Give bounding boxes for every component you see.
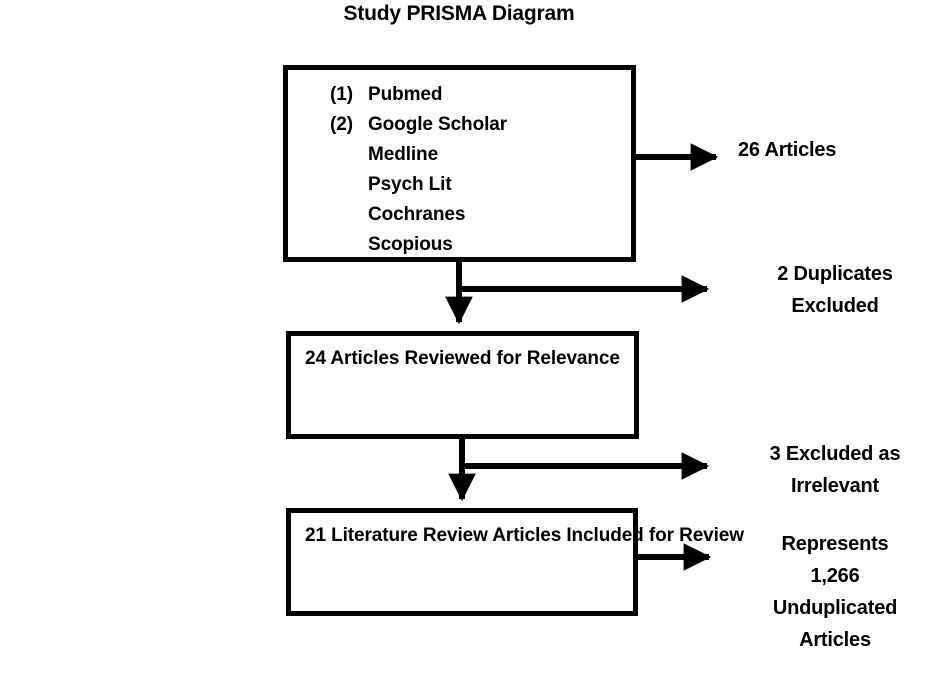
- source-marker: (2): [330, 110, 368, 140]
- source-marker: [330, 200, 368, 230]
- databases-searched-box: (1) Pubmed (2) Google Scholar Medline Ps…: [283, 65, 636, 262]
- articles-included-box: 21 Literature Review Articles Included f…: [286, 508, 638, 616]
- label-represents-line-3: Unduplicated: [735, 592, 935, 624]
- label-excluded-irrelevant-line-1: 3 Excluded as: [735, 438, 935, 470]
- label-duplicates-excluded-line-1: 2 Duplicates: [735, 258, 935, 290]
- label-duplicates-excluded-line-2: Excluded: [735, 290, 935, 322]
- source-label: Medline: [368, 140, 507, 170]
- label-represents-line-1: Represents: [735, 528, 935, 560]
- articles-included-line-1: 21 Literature Review Articles: [305, 525, 561, 546]
- page-title: Study PRISMA Diagram: [283, 2, 635, 26]
- source-label: Cochranes: [368, 200, 507, 230]
- label-represents-unduplicated: Represents 1,266 Unduplicated Articles: [735, 528, 935, 656]
- articles-reviewed-text: 24 Articles Reviewed for Relevance: [305, 344, 620, 373]
- source-label: Google Scholar: [368, 110, 507, 140]
- prisma-diagram: Study PRISMA Diagram (1) Pubmed (2) Goog…: [0, 0, 940, 674]
- database-source-list: (1) Pubmed (2) Google Scholar Medline Ps…: [330, 80, 507, 260]
- label-articles-retrieved: 26 Articles: [738, 134, 836, 166]
- source-label: Pubmed: [368, 80, 507, 110]
- source-marker: [330, 140, 368, 170]
- articles-reviewed-line-1: 24 Articles Reviewed for: [305, 348, 522, 369]
- articles-reviewed-box: 24 Articles Reviewed for Relevance: [286, 331, 639, 439]
- label-duplicates-excluded: 2 Duplicates Excluded: [735, 258, 935, 322]
- source-label: Psych Lit: [368, 170, 507, 200]
- source-marker: [330, 230, 368, 260]
- label-excluded-irrelevant-line-2: Irrelevant: [735, 470, 935, 502]
- label-represents-line-2: 1,266: [735, 560, 935, 592]
- label-excluded-irrelevant: 3 Excluded as Irrelevant: [735, 438, 935, 502]
- label-articles-retrieved-line-1: 26 Articles: [738, 134, 836, 166]
- source-marker: (1): [330, 80, 368, 110]
- articles-reviewed-line-2: Relevance: [527, 348, 620, 369]
- source-label: Scopious: [368, 230, 507, 260]
- source-marker: [330, 170, 368, 200]
- articles-included-line-2: Included for Review: [566, 525, 744, 546]
- label-represents-line-4: Articles: [735, 624, 935, 656]
- articles-included-text: 21 Literature Review Articles Included f…: [305, 521, 744, 550]
